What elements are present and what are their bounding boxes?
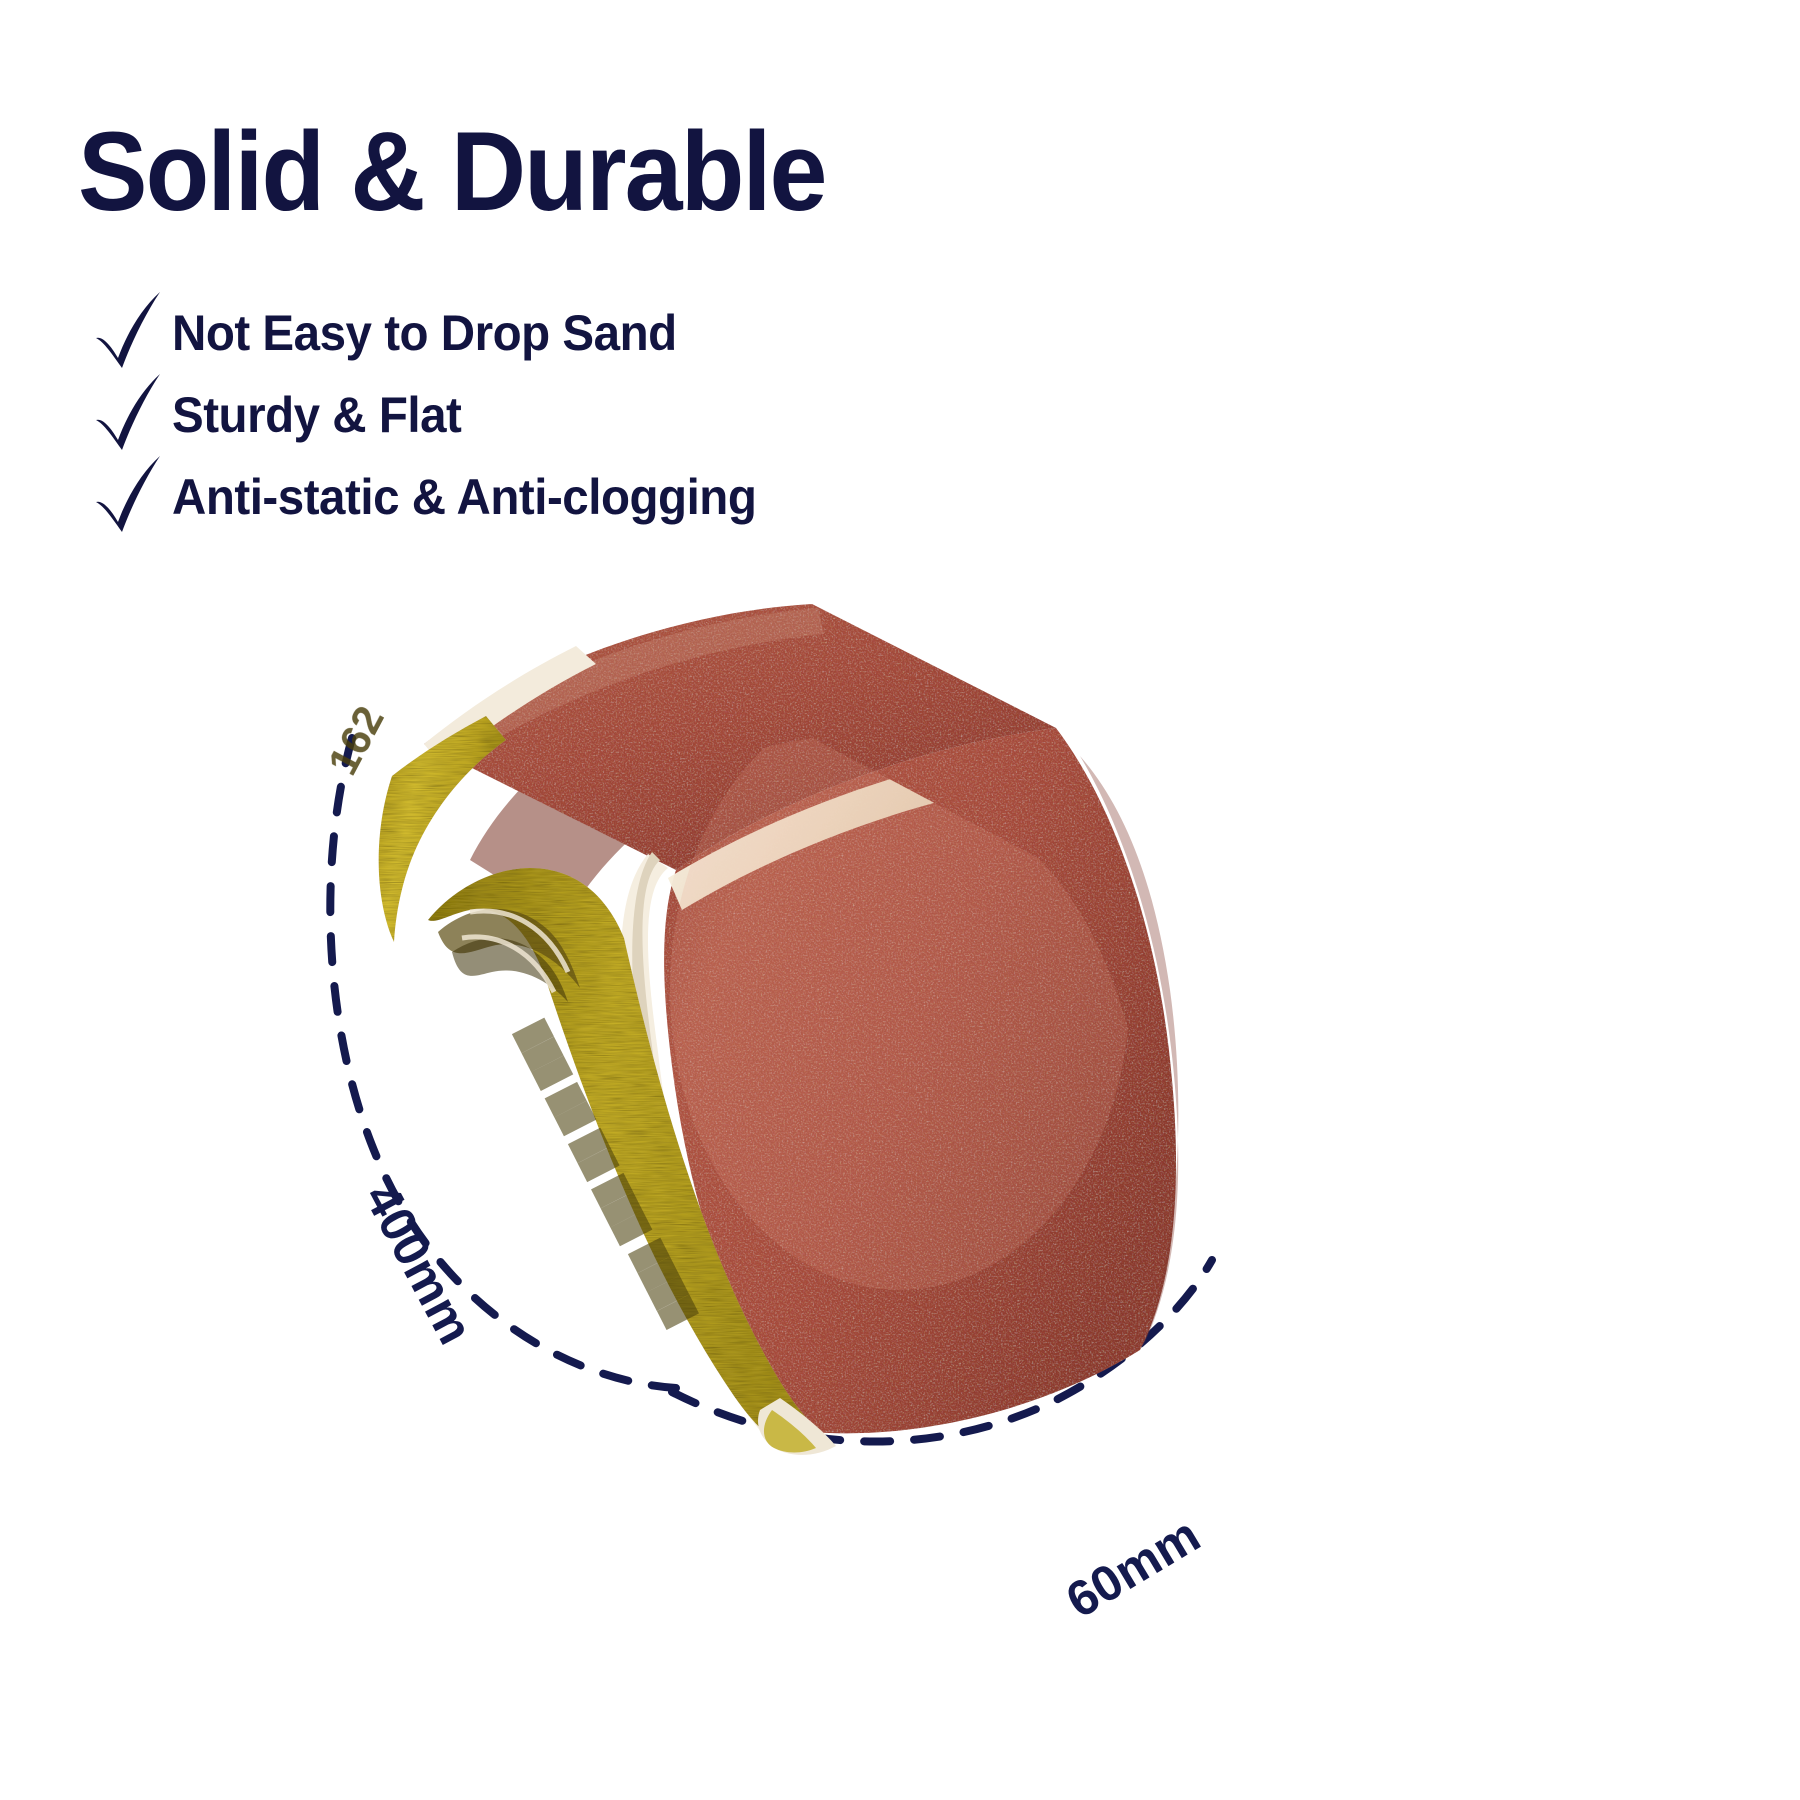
feature-item-2: Sturdy & Flat	[86, 374, 1136, 456]
check-icon	[86, 292, 172, 374]
feature-label: Anti-static & Anti-clogging	[172, 468, 756, 526]
infographic-canvas: Solid & Durable Not Easy to Drop Sand St…	[0, 0, 1800, 1800]
backing-code-162: 162	[318, 698, 392, 782]
check-icon	[86, 374, 172, 456]
feature-item-1: Not Easy to Drop Sand	[86, 292, 1136, 374]
sanding-belt-illustration: 162 ███ ██ ██ ███ ████	[0, 560, 1800, 1560]
feature-label: Sturdy & Flat	[172, 386, 461, 444]
check-icon	[86, 456, 172, 538]
page-title: Solid & Durable	[78, 116, 826, 228]
feature-list: Not Easy to Drop Sand Sturdy & Flat Anti…	[86, 292, 1136, 538]
feature-label: Not Easy to Drop Sand	[172, 304, 677, 362]
product-image: 162 ███ ██ ██ ███ ████	[0, 560, 1800, 1560]
feature-item-3: Anti-static & Anti-clogging	[86, 456, 1136, 538]
